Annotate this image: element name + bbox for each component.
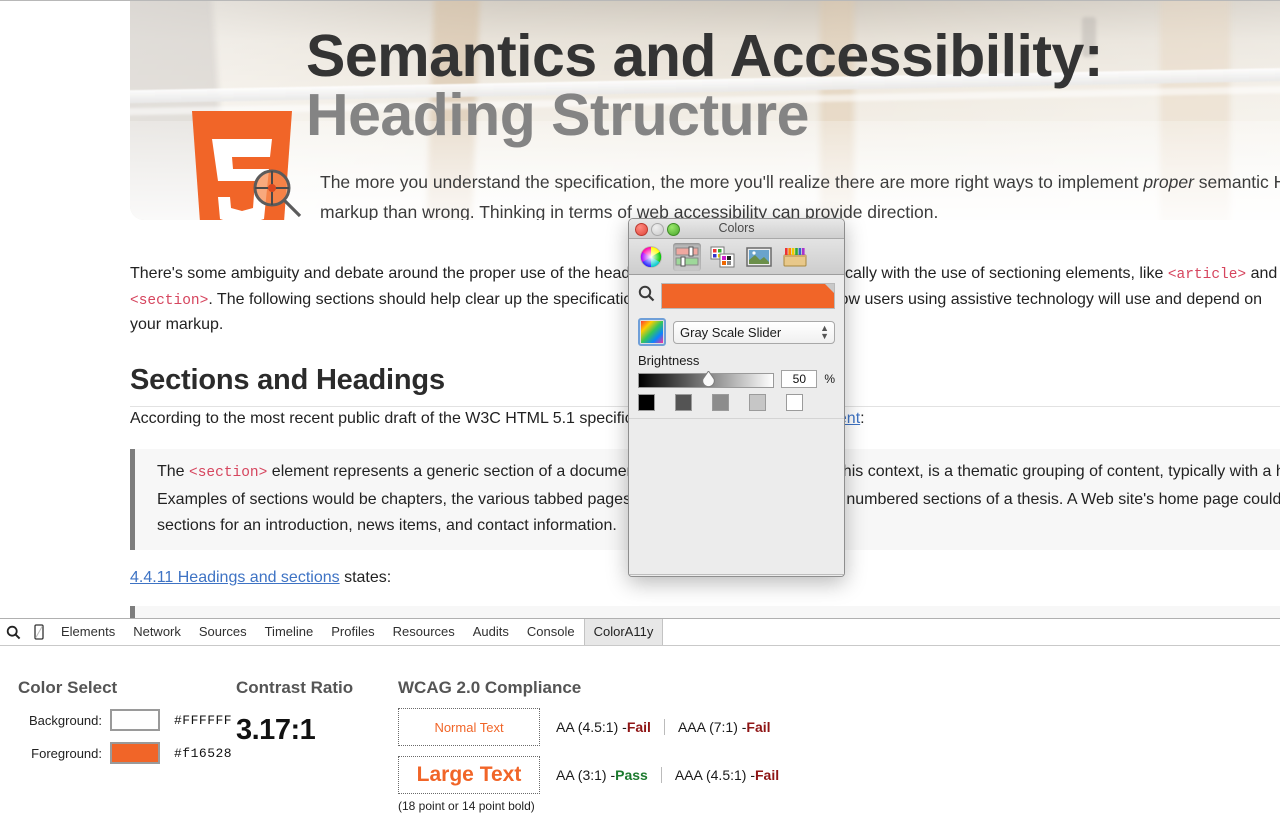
gray-swatch[interactable] xyxy=(638,394,655,411)
color-palettes-icon[interactable] xyxy=(709,243,737,271)
gray-swatch[interactable] xyxy=(786,394,803,411)
colors-dialog-empty-area xyxy=(629,418,844,574)
devtools-panel: Elements Network Sources Timeline Profil… xyxy=(0,618,1280,801)
verdict-separator xyxy=(661,767,662,783)
color-wells-footer xyxy=(629,574,844,577)
chevron-updown-icon: ▲▼ xyxy=(820,324,829,340)
browser-viewport: Semantics and Accessibility: Heading Str… xyxy=(0,0,1280,618)
gray-swatch-row xyxy=(638,394,835,411)
paragraph-text: : xyxy=(860,410,864,427)
wcag-normal-row: Normal Text AA (4.5:1) - Fail AAA (7:1) … xyxy=(398,708,779,746)
normal-aaa-label: AAA (7:1) - xyxy=(678,719,746,735)
hero-subtitle-emphasis: proper xyxy=(1143,172,1194,192)
large-aaa-result: Fail xyxy=(755,767,779,783)
paragraph-text: and xyxy=(1246,265,1277,282)
crayons-icon[interactable] xyxy=(781,243,809,271)
colora11y-content: Color Select Background: #FFFFFF Foregro… xyxy=(0,646,1280,662)
paragraph-text: There's some ambiguity and debate around… xyxy=(130,265,669,282)
tab-timeline[interactable]: Timeline xyxy=(256,619,323,645)
wcag-large-row: Large Text AA (3:1) - Pass AAA (4.5:1) -… xyxy=(398,756,779,794)
hero-subtitle: The more you understand the specificatio… xyxy=(320,167,1280,220)
brightness-slider[interactable] xyxy=(638,372,774,387)
link-headings-and-sections[interactable]: 4.4.11 Headings and sections xyxy=(130,569,340,586)
colors-dialog-body: Gray Scale Slider ▲▼ Brightness 50 % xyxy=(629,275,844,574)
background-hex-value: #FFFFFF xyxy=(174,713,232,728)
quote-text: The xyxy=(157,463,189,480)
tab-console[interactable]: Console xyxy=(518,619,584,645)
colors-dialog-toolbar[interactable] xyxy=(629,239,844,275)
background-label: Background: xyxy=(18,713,110,728)
color-search-row xyxy=(638,283,835,309)
code-article: <article> xyxy=(1168,267,1246,283)
wcag-title: WCAG 2.0 Compliance xyxy=(398,678,779,698)
large-text-note: (18 point or 14 point bold) xyxy=(398,799,779,813)
brightness-row: 50 % xyxy=(638,370,835,388)
search-icon[interactable] xyxy=(0,619,26,645)
tab-sources[interactable]: Sources xyxy=(190,619,256,645)
foreground-color-swatch[interactable] xyxy=(110,742,160,764)
search-icon[interactable] xyxy=(638,285,655,307)
contrast-ratio-value: 3.17:1 xyxy=(236,714,353,747)
brightness-label: Brightness xyxy=(638,353,835,368)
hero-title-line1: Semantics and Accessibility: xyxy=(306,28,1266,85)
hero-banner: Semantics and Accessibility: Heading Str… xyxy=(130,1,1280,220)
normal-text-sample: Normal Text xyxy=(398,708,540,746)
foreground-hex-value: #f16528 xyxy=(174,746,232,761)
brightness-unit: % xyxy=(824,372,835,386)
verdict-separator xyxy=(664,719,665,735)
gray-swatch[interactable] xyxy=(749,394,766,411)
tab-elements[interactable]: Elements xyxy=(52,619,124,645)
html5-shield-logo xyxy=(192,111,292,220)
brightness-slider-knob[interactable] xyxy=(701,371,716,388)
background-color-swatch[interactable] xyxy=(110,709,160,731)
background-color-row: Background: #FFFFFF xyxy=(18,709,232,731)
foreground-color-row: Foreground: #f16528 xyxy=(18,742,232,764)
gray-swatch[interactable] xyxy=(675,394,692,411)
normal-aa-label: AA (4.5:1) - xyxy=(556,719,627,735)
tab-network[interactable]: Network xyxy=(124,619,190,645)
color-select-title: Color Select xyxy=(18,678,232,698)
hero-subtitle-part1: The more you understand the specificatio… xyxy=(320,172,1143,192)
normal-text-verdicts: AA (4.5:1) - Fail AAA (7:1) - Fail xyxy=(556,719,771,735)
color-sliders-icon[interactable] xyxy=(673,243,701,271)
tab-profiles[interactable]: Profiles xyxy=(322,619,383,645)
brightness-value[interactable]: 50 xyxy=(781,370,817,388)
large-aa-label: AA (3:1) - xyxy=(556,767,615,783)
normal-aaa-result: Fail xyxy=(746,719,770,735)
contrast-ratio-section: Contrast Ratio 3.17:1 xyxy=(236,678,353,747)
slider-mode-select[interactable]: Gray Scale Slider ▲▼ xyxy=(673,321,835,344)
current-color-swatch[interactable] xyxy=(661,283,835,309)
colors-dialog-titlebar[interactable]: Colors xyxy=(629,219,844,239)
hero-title: Semantics and Accessibility: Heading Str… xyxy=(306,28,1266,146)
large-text-verdicts: AA (3:1) - Pass AAA (4.5:1) - Fail xyxy=(556,767,779,783)
slider-mode-row: Gray Scale Slider ▲▼ xyxy=(638,318,835,346)
foreground-label: Foreground: xyxy=(18,746,110,761)
large-aaa-label: AAA (4.5:1) - xyxy=(675,767,755,783)
paragraph-text: According to the most recent public draf… xyxy=(130,410,676,427)
magnifier-crosshair-icon xyxy=(250,166,304,220)
color-select-section: Color Select Background: #FFFFFF Foregro… xyxy=(18,678,232,764)
wcag-compliance-section: WCAG 2.0 Compliance Normal Text AA (4.5:… xyxy=(398,678,779,813)
tab-audits[interactable]: Audits xyxy=(464,619,518,645)
image-palette-icon[interactable] xyxy=(745,243,773,271)
blockquote-headings-rank: Sections may contain headings of any ran… xyxy=(130,606,1280,619)
large-aa-result: Pass xyxy=(615,767,648,783)
magic-wand-picker-icon[interactable] xyxy=(638,318,666,346)
gray-swatch[interactable] xyxy=(712,394,729,411)
devtools-tabbar: Elements Network Sources Timeline Profil… xyxy=(0,619,1280,646)
code-section: <section> xyxy=(130,293,208,309)
hero-title-line2: Heading Structure xyxy=(306,85,1266,146)
device-toolbar-icon[interactable] xyxy=(26,619,52,645)
normal-aa-result: Fail xyxy=(627,719,651,735)
slider-mode-value: Gray Scale Slider xyxy=(680,325,781,340)
large-text-sample: Large Text xyxy=(398,756,540,794)
color-wheel-icon[interactable] xyxy=(637,243,665,271)
colors-dialog[interactable]: Colors xyxy=(628,218,845,577)
tab-resources[interactable]: Resources xyxy=(384,619,464,645)
paragraph-text: , specifically with the use of sectionin… xyxy=(791,265,1168,282)
tab-colora11y[interactable]: ColorA11y xyxy=(584,619,664,645)
code-section: <section> xyxy=(189,465,267,481)
colors-dialog-title: Colors xyxy=(629,221,844,235)
paragraph-text: states: xyxy=(340,569,392,586)
contrast-ratio-title: Contrast Ratio xyxy=(236,678,353,698)
